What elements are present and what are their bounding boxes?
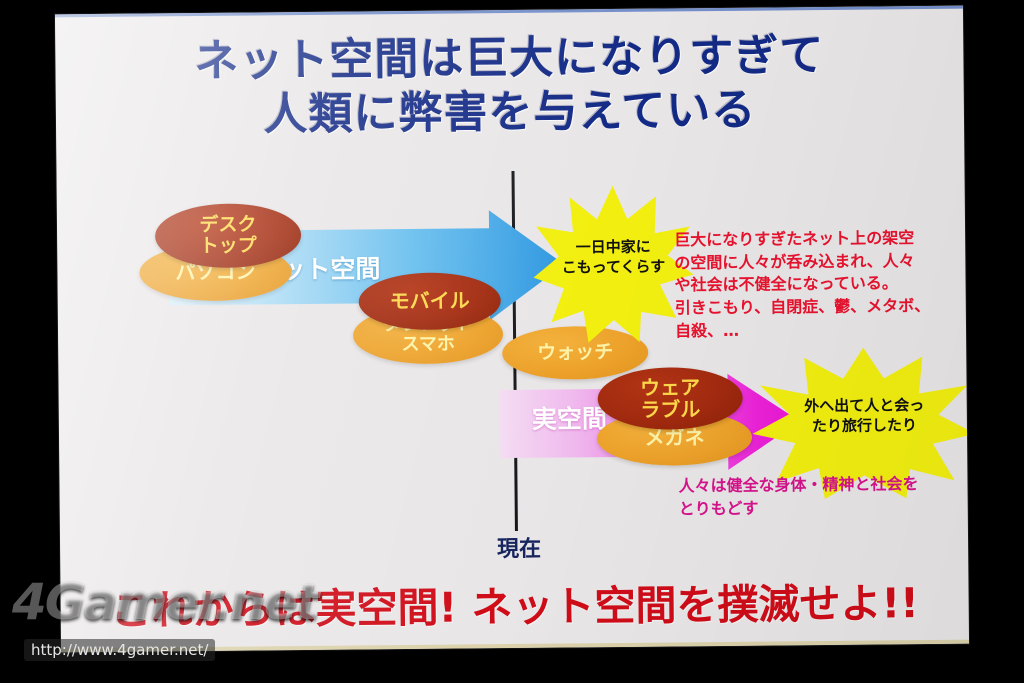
slide-title: ネット空間は巨大になりすぎて 人類に弊害を与えている — [55, 28, 964, 144]
watermark-url: http://www.4gamer.net/ — [24, 639, 215, 661]
slide-top-edge — [55, 6, 963, 18]
presentation-slide: ネット空間は巨大になりすぎて 人類に弊害を与えている 現在 ネット空間 — [55, 6, 969, 653]
real-space-note: 人々は健全な身体・精神と社会を とりもどす — [678, 473, 968, 521]
starburst-real-space-text: 外へ出て人と会っ たり旅行したり — [772, 395, 957, 437]
net-space-note: 巨大になりすぎたネット上の架空 の空間に人々が呑み込まれ、人々 や社会は不健全に… — [674, 227, 967, 343]
real-space-arrow-label: 実空間 — [532, 399, 607, 436]
watermark-logo: 4Gamer.net — [12, 573, 318, 631]
starburst-net-space-text: 一日中家に こもってくらす — [533, 236, 693, 278]
timeline-now-label: 現在 — [474, 531, 564, 564]
screenshot-root: ネット空間は巨大になりすぎて 人類に弊害を与えている 現在 ネット空間 — [0, 0, 1024, 683]
